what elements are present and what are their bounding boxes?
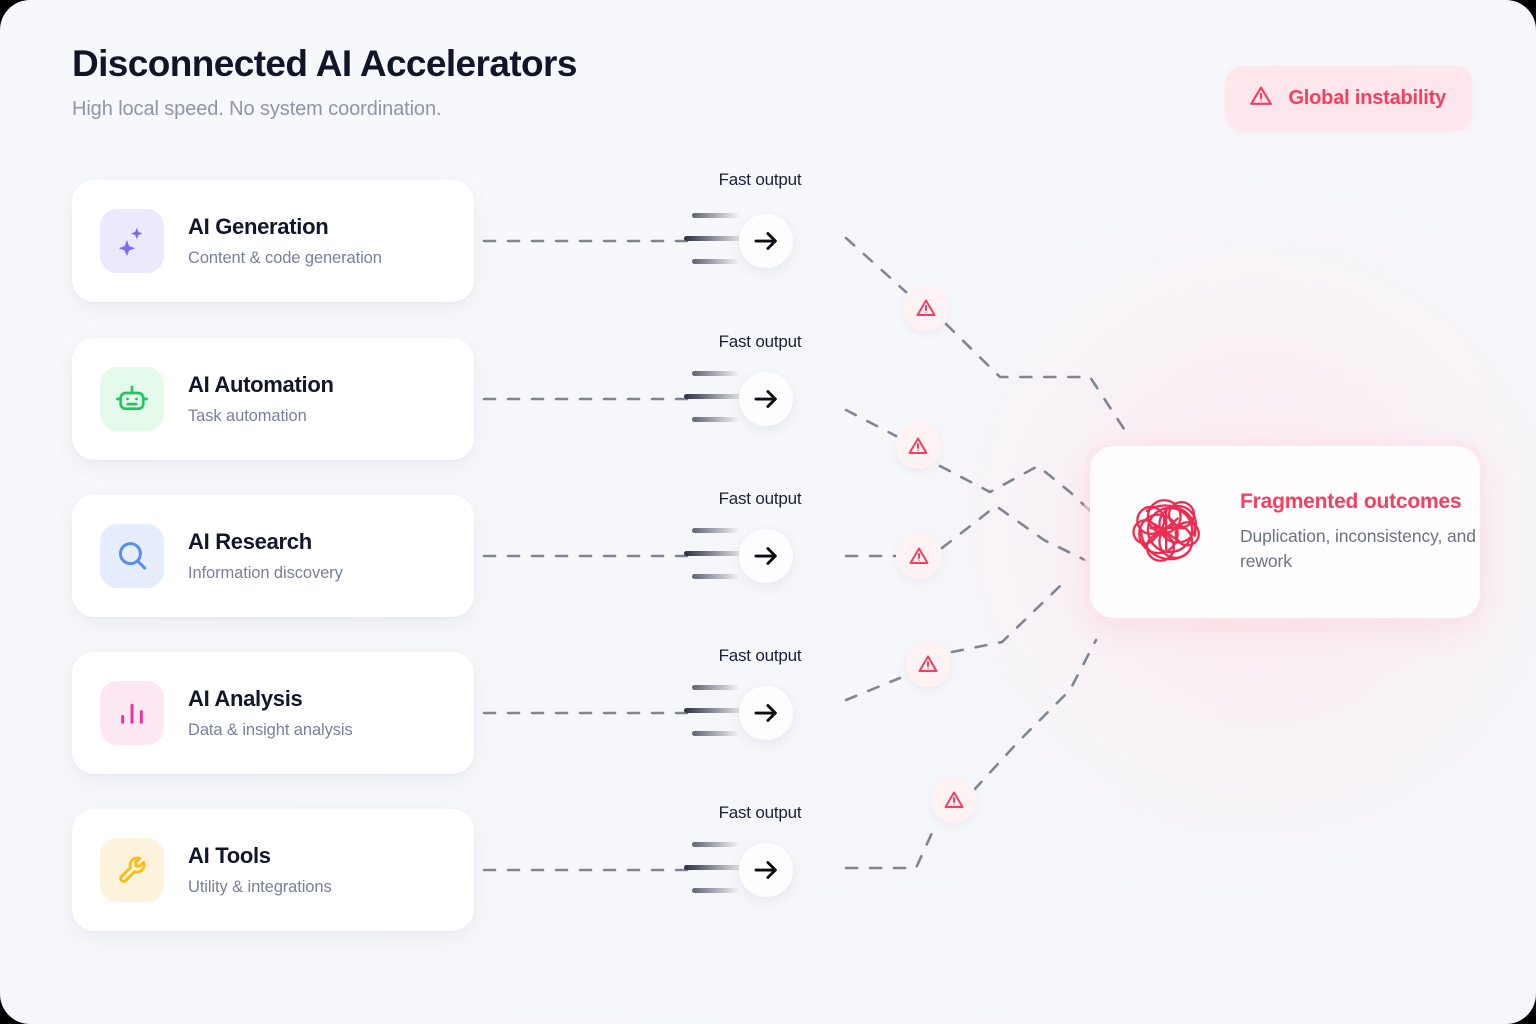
accelerator-card-ai-tools[interactable]: AI Tools Utility & integrations (72, 809, 474, 931)
fast-output-label-4: Fast output (719, 646, 802, 666)
card-title: AI Automation (188, 372, 334, 397)
fast-output-arrow-4[interactable] (739, 686, 793, 740)
card-text: AI Research Information discovery (188, 529, 343, 582)
card-subtitle: Task automation (188, 407, 334, 426)
card-title: AI Research (188, 529, 343, 554)
warning-node-4[interactable] (905, 641, 951, 687)
bar-chart-icon (100, 681, 164, 745)
card-title: AI Analysis (188, 686, 353, 711)
accelerator-card-ai-research[interactable]: AI Research Information discovery (72, 495, 474, 617)
card-text: AI Generation Content & code generation (188, 214, 382, 267)
wrench-icon (100, 838, 164, 902)
warning-node-2[interactable] (895, 423, 941, 469)
fast-output-arrow-2[interactable] (739, 372, 793, 426)
card-subtitle: Utility & integrations (188, 878, 332, 897)
outcome-card-fragmented-outcomes[interactable]: Fragmented outcomes Duplication, inconsi… (1090, 446, 1480, 618)
accelerator-card-ai-generation[interactable]: AI Generation Content & code generation (72, 180, 474, 302)
card-text: AI Analysis Data & insight analysis (188, 686, 353, 739)
warning-node-3[interactable] (896, 533, 942, 579)
diagram-canvas: Disconnected AI Accelerators High local … (0, 0, 1536, 1024)
card-title: AI Generation (188, 214, 382, 239)
accelerator-card-ai-automation[interactable]: AI Automation Task automation (72, 338, 474, 460)
card-text: AI Automation Task automation (188, 372, 334, 425)
warning-node-5[interactable] (931, 777, 977, 823)
accelerator-card-ai-analysis[interactable]: AI Analysis Data & insight analysis (72, 652, 474, 774)
outcome-subtitle: Duplication, inconsistency, and rework (1240, 524, 1480, 575)
fast-output-arrow-5[interactable] (739, 843, 793, 897)
card-text: AI Tools Utility & integrations (188, 843, 332, 896)
card-subtitle: Information discovery (188, 564, 343, 583)
fast-output-arrow-1[interactable] (739, 214, 793, 268)
scribble-tangle-icon (1122, 482, 1218, 583)
warning-node-1[interactable] (903, 285, 949, 331)
outcome-title: Fragmented outcomes (1240, 490, 1480, 514)
fast-output-label-5: Fast output (719, 803, 802, 823)
fast-output-arrow-3[interactable] (739, 529, 793, 583)
card-title: AI Tools (188, 843, 332, 868)
fast-output-label-3: Fast output (719, 489, 802, 509)
outcome-text: Fragmented outcomes Duplication, inconsi… (1240, 490, 1480, 575)
card-subtitle: Data & insight analysis (188, 721, 353, 740)
fast-output-label-1: Fast output (719, 170, 802, 190)
robot-icon (100, 367, 164, 431)
sparkles-icon (100, 209, 164, 273)
magnifier-icon (100, 524, 164, 588)
card-subtitle: Content & code generation (188, 249, 382, 268)
fast-output-label-2: Fast output (719, 332, 802, 352)
